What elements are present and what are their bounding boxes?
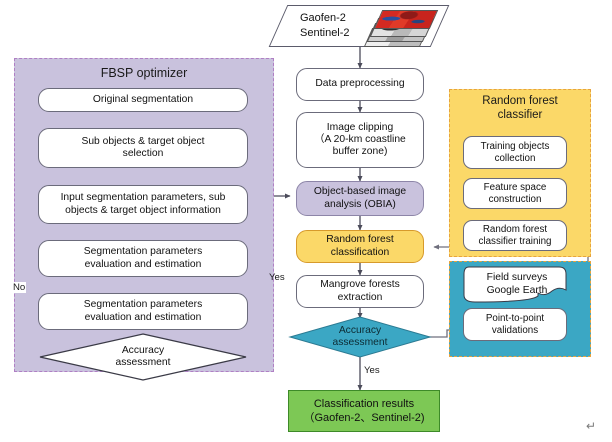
- node-data-input-labels: Gaofen-2Sentinel-2: [300, 11, 372, 40]
- node-data-preprocessing[interactable]: Data preprocessing: [296, 68, 424, 101]
- node-feature-space-construction[interactable]: Feature space construction: [463, 178, 567, 209]
- node-segmentation-evaluation-2[interactable]: Segmentation parameters evaluation and e…: [38, 293, 248, 330]
- node-mangrove-extraction[interactable]: Mangrove forests extraction: [296, 275, 424, 308]
- node-main-accuracy-label: Accuracy assessment: [288, 316, 432, 358]
- node-obia[interactable]: Object-based image analysis (OBIA): [296, 181, 424, 216]
- return-mark: ↵: [586, 419, 596, 433]
- node-fbsp-accuracy-label: Accuracy assessment: [38, 333, 248, 381]
- node-classification-results[interactable]: Classification results （Gaofen-2、Sentine…: [288, 390, 440, 432]
- edge-label-yes-fbsp: Yes: [269, 272, 285, 283]
- node-main-accuracy-assessment[interactable]: Accuracy assessment: [288, 316, 432, 358]
- node-random-forest-classifier-training[interactable]: Random forest classifier training: [463, 220, 567, 251]
- node-field-surveys[interactable]: Field surveys Google Earth: [463, 266, 571, 303]
- panel-fbsp-title: FBSP optimizer: [14, 66, 274, 80]
- data-input-line2: Sentinel-2: [300, 27, 350, 39]
- data-input-line1: Gaofen-2: [300, 12, 346, 24]
- node-fbsp-accuracy-assessment[interactable]: Accuracy assessment: [38, 333, 248, 381]
- node-segmentation-evaluation-1[interactable]: Segmentation parameters evaluation and e…: [38, 240, 248, 277]
- node-image-clipping[interactable]: Image clipping （A 20-km coastline buffer…: [296, 112, 424, 168]
- edge-label-no: No: [12, 282, 26, 293]
- node-input-parameters[interactable]: Input segmentation parameters, sub objec…: [38, 185, 248, 224]
- node-random-forest-classification[interactable]: Random forest classification: [296, 230, 424, 263]
- rf-title-line2: classifier: [498, 109, 543, 121]
- panel-random-forest-title: Random forestclassifier: [449, 94, 591, 122]
- node-original-segmentation[interactable]: Original segmentation: [38, 88, 248, 112]
- node-field-surveys-label: Field surveys Google Earth: [463, 266, 571, 306]
- rf-title-line1: Random forest: [482, 95, 557, 107]
- node-point-to-point-validations[interactable]: Point-to-point validations: [463, 308, 567, 341]
- edge-label-yes-result: Yes: [364, 365, 380, 376]
- node-training-objects-collection[interactable]: Training objects collection: [463, 136, 567, 169]
- node-sub-objects-selection[interactable]: Sub objects & target object selection: [38, 128, 248, 168]
- raster-image-stack-icon: [372, 8, 434, 46]
- flowchart-canvas: FBSP optimizer Original segmentation Sub…: [0, 0, 612, 442]
